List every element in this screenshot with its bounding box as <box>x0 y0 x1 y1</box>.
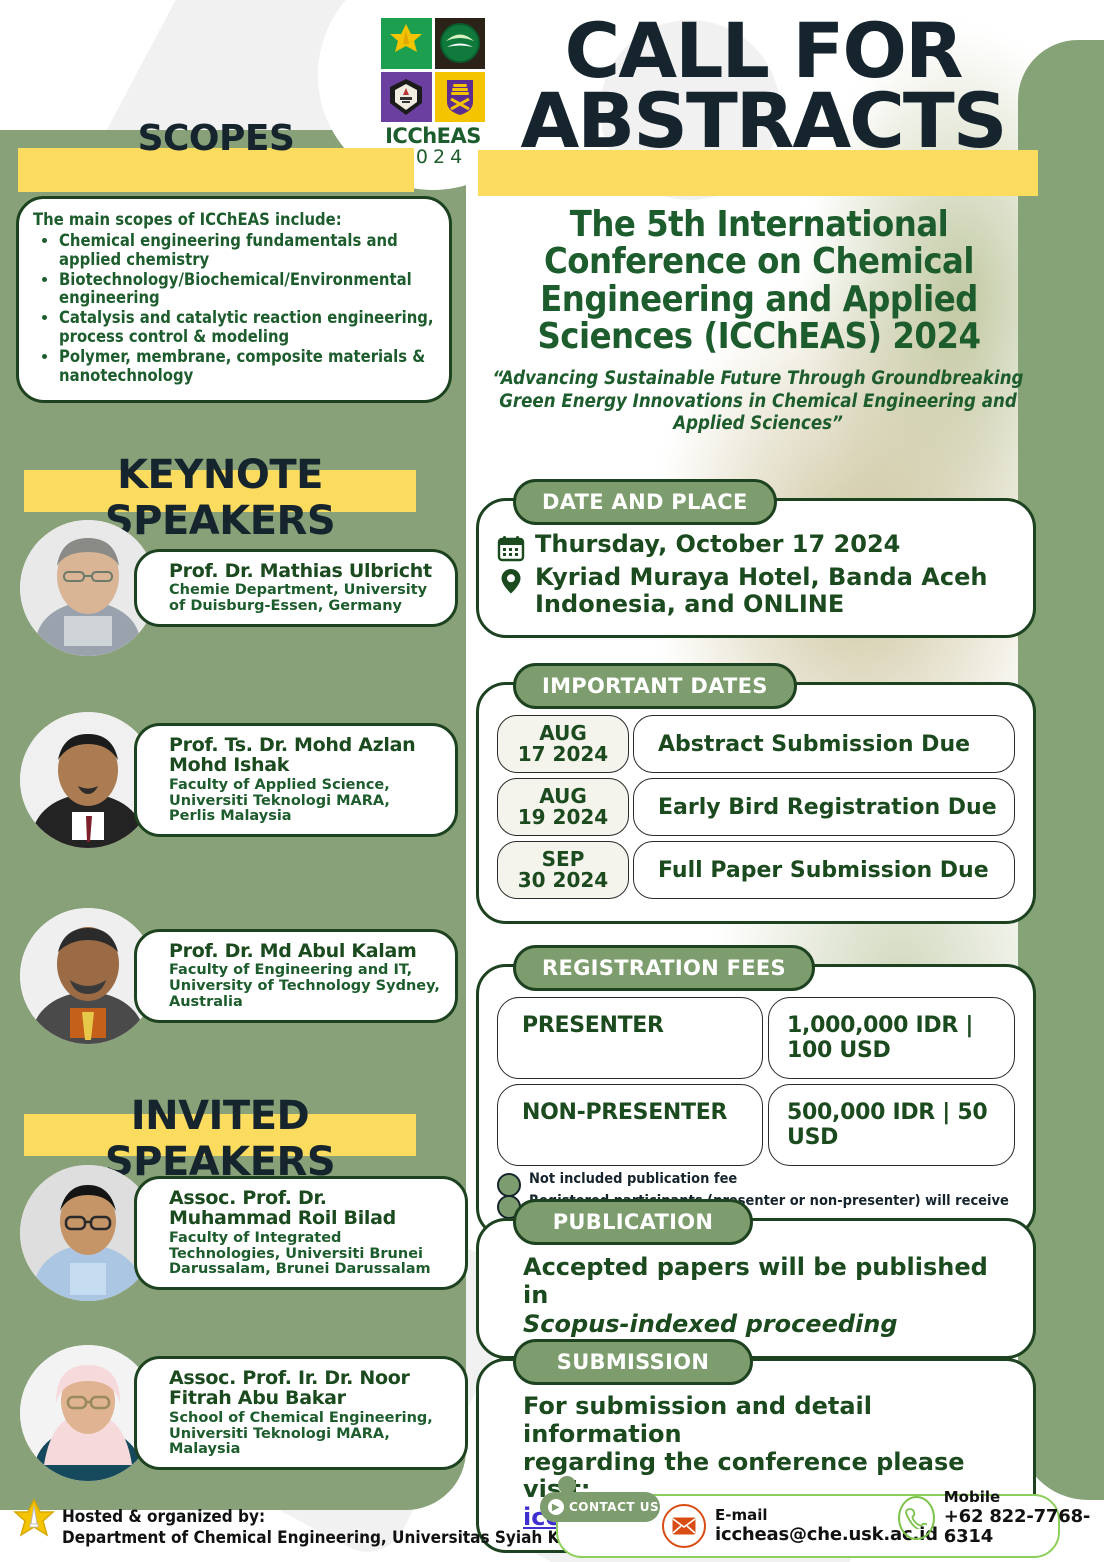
event-venue: Kyriad Muraya Hotel, Banda Aceh Indonesi… <box>535 564 987 619</box>
contact-mobile-label: Mobile <box>944 1488 1000 1506</box>
important-date-row: AUG 19 2024 Early Bird Registration Due <box>497 778 1015 836</box>
date-and-place-tab: DATE AND PLACE <box>513 479 777 525</box>
submission-tab: SUBMISSION <box>513 1339 753 1385</box>
event-venue-line: Kyriad Muraya Hotel, Banda Aceh Indonesi… <box>497 564 1015 619</box>
date-pill: SEP 30 2024 <box>497 841 629 899</box>
fee-row: NON-PRESENTER 500,000 IDR | 50 USD <box>497 1084 1015 1166</box>
usk-footer-logo-icon <box>12 1498 56 1546</box>
submission-line-1: For submission and detail information <box>523 1392 872 1448</box>
important-dates-section: IMPORTANT DATES AUG 17 2024 Abstract Sub… <box>476 682 1036 924</box>
phone-icon <box>898 1496 935 1540</box>
scopes-heading: SCOPES <box>18 118 414 159</box>
registration-fees-section: REGISTRATION FEES PRESENTER 1,000,000 ID… <box>476 964 1036 1238</box>
contact-email[interactable]: E-mail iccheas@che.usk.ac.id <box>662 1504 938 1548</box>
calendar-icon <box>497 534 525 562</box>
poster-root: ICChEAS 2024 SCOPES The main scopes of I… <box>0 0 1104 1562</box>
date-and-place-body: DATE AND PLACE Thursday, October 17 2024… <box>476 498 1036 638</box>
speaker-card: Assoc. Prof. Ir. Dr. Noor Fitrah Abu Bak… <box>134 1356 468 1471</box>
speaker-card: Prof. Dr. Mathias Ulbricht Chemie Depart… <box>134 549 458 627</box>
contact-mobile-value: +62 822-7768-6314 <box>944 1506 1090 1548</box>
important-date-row: SEP 30 2024 Full Paper Submission Due <box>497 841 1015 899</box>
fee-row: PRESENTER 1,000,000 IDR | 100 USD <box>497 997 1015 1079</box>
speaker-card: Assoc. Prof. Dr. Muhammad Roil Bilad Fac… <box>134 1176 468 1291</box>
speaker-affiliation: Faculty of Engineering and IT, Universit… <box>169 963 441 1011</box>
speaker-affiliation: Faculty of Integrated Technologies, Univ… <box>169 1231 451 1279</box>
date-dayyear: 19 2024 <box>518 807 608 828</box>
registration-fees-body: REGISTRATION FEES PRESENTER 1,000,000 ID… <box>476 964 1036 1238</box>
keynote-speaker-1: Prof. Dr. Mathias Ulbricht Chemie Depart… <box>20 520 460 656</box>
publication-text: Accepted papers will be published in Sco… <box>497 1253 1015 1338</box>
fee-note-text: Not included publication fee <box>529 1171 737 1187</box>
date-label: Early Bird Registration Due <box>633 778 1015 836</box>
speaker-name: Prof. Ts. Dr. Mohd Azlan Mohd Ishak <box>169 735 441 776</box>
date-month: SEP <box>542 849 585 870</box>
scopes-item: Biotechnology/Biochemical/Environmental … <box>59 271 435 309</box>
speaker-affiliation: Chemie Department, University of Duisbur… <box>169 583 441 615</box>
event-date-line: Thursday, October 17 2024 <box>497 531 1015 562</box>
fee-type: NON-PRESENTER <box>497 1084 763 1166</box>
logo-usk-icon <box>381 18 432 69</box>
conference-title: The 5th International Conference on Chem… <box>474 206 1044 356</box>
speaker-name: Assoc. Prof. Dr. Muhammad Roil Bilad <box>169 1188 451 1229</box>
chevron-right-icon: ▶ <box>548 1499 564 1515</box>
publication-tab: PUBLICATION <box>513 1199 753 1245</box>
date-pill: AUG 19 2024 <box>497 778 629 836</box>
conference-theme: “Advancing Sustainable Future Through Gr… <box>478 368 1038 436</box>
speaker-name: Assoc. Prof. Ir. Dr. Noor Fitrah Abu Bak… <box>169 1368 451 1409</box>
event-venue-line1: Kyriad Muraya Hotel, Banda Aceh <box>535 563 987 591</box>
footer-host-text: Hosted & organized by: Department of Che… <box>62 1507 596 1548</box>
speaker-name: Prof. Dr. Md Abul Kalam <box>169 941 441 962</box>
registration-fees-tab: REGISTRATION FEES <box>513 945 815 991</box>
event-date: Thursday, October 17 2024 <box>535 531 900 558</box>
contact-mobile-text: Mobile +62 822-7768-6314 <box>944 1489 1104 1548</box>
publication-body: PUBLICATION Accepted papers will be publ… <box>476 1218 1036 1359</box>
scopes-box: The main scopes of ICChEAS include: Chem… <box>16 196 452 403</box>
footer-host-line-1: Hosted & organized by: <box>62 1507 596 1527</box>
contact-us-badge[interactable]: ▶ CONTACT US <box>540 1492 660 1522</box>
date-dayyear: 17 2024 <box>518 744 608 765</box>
date-month: AUG <box>539 723 587 744</box>
date-pill: AUG 17 2024 <box>497 715 629 773</box>
important-dates-tab: IMPORTANT DATES <box>513 663 797 709</box>
date-label: Full Paper Submission Due <box>633 841 1015 899</box>
scopes-list: Chemical engineering fundamentals and ap… <box>33 232 435 385</box>
invited-speaker-1: Assoc. Prof. Dr. Muhammad Roil Bilad Fac… <box>20 1165 470 1301</box>
keynote-speaker-2: Prof. Ts. Dr. Mohd Azlan Mohd Ishak Facu… <box>20 712 460 848</box>
date-month: AUG <box>539 786 587 807</box>
speaker-affiliation: School of Chemical Engineering, Universi… <box>169 1411 451 1459</box>
envelope-icon <box>662 1504 706 1548</box>
speaker-affiliation: Faculty of Applied Science, Universiti T… <box>169 778 441 826</box>
date-label: Abstract Submission Due <box>633 715 1015 773</box>
contact-us-label: CONTACT US <box>569 1500 659 1514</box>
important-dates-body: IMPORTANT DATES AUG 17 2024 Abstract Sub… <box>476 682 1036 924</box>
title-line-2: ABSTRACTS <box>478 86 1048 156</box>
logo-third-university-icon <box>381 72 432 123</box>
contact-email-label: E-mail <box>715 1506 768 1524</box>
date-dayyear: 30 2024 <box>518 870 608 891</box>
fee-type: PRESENTER <box>497 997 763 1079</box>
publication-section: PUBLICATION Accepted papers will be publ… <box>476 1218 1036 1359</box>
important-date-row: AUG 17 2024 Abstract Submission Due <box>497 715 1015 773</box>
scopes-item: Polymer, membrane, composite materials &… <box>59 348 435 386</box>
speaker-name: Prof. Dr. Mathias Ulbricht <box>169 561 441 582</box>
speaker-card: Prof. Ts. Dr. Mohd Azlan Mohd Ishak Facu… <box>134 723 458 838</box>
footer-host-line-2: Department of Chemical Engineering, Univ… <box>62 1528 596 1548</box>
publication-line-2: Scopus-indexed proceeding <box>523 1310 898 1338</box>
keynote-speaker-3: Prof. Dr. Md Abul Kalam Faculty of Engin… <box>20 908 460 1044</box>
fee-price: 1,000,000 IDR | 100 USD <box>768 997 1015 1079</box>
speaker-card: Prof. Dr. Md Abul Kalam Faculty of Engin… <box>134 929 458 1023</box>
scopes-intro: The main scopes of ICChEAS include: <box>33 211 435 230</box>
page-title: CALL FOR ABSTRACTS <box>478 16 1048 156</box>
publication-line-1: Accepted papers will be published in <box>523 1253 988 1309</box>
scopes-item: Catalysis and catalytic reaction enginee… <box>59 309 435 347</box>
fee-price: 500,000 IDR | 50 USD <box>768 1084 1015 1166</box>
scopes-item: Chemical engineering fundamentals and ap… <box>59 232 435 270</box>
logo-university-grid <box>381 18 485 122</box>
invited-speaker-2: Assoc. Prof. Ir. Dr. Noor Fitrah Abu Bak… <box>20 1345 470 1481</box>
date-and-place-section: DATE AND PLACE Thursday, October 17 2024… <box>476 498 1036 638</box>
bullet-dot-icon <box>497 1173 521 1197</box>
location-pin-icon <box>497 567 525 595</box>
event-venue-line2: Indonesia, and ONLINE <box>535 590 844 618</box>
contact-mobile[interactable]: Mobile +62 822-7768-6314 <box>898 1489 1104 1548</box>
